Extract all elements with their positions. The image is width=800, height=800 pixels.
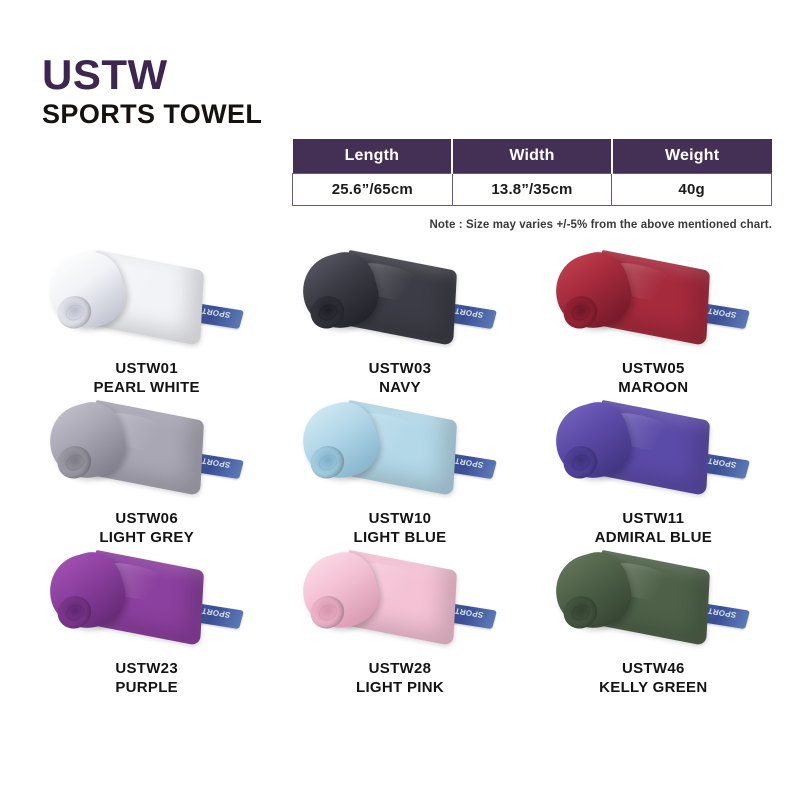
title-block: USTW SPORTS TOWEL — [42, 54, 262, 129]
towel-image: SPORT TOWEL — [42, 552, 252, 654]
product-grid: SPORT TOWELUSTW01PEARL WHITESPORT TOWELU… — [20, 250, 780, 700]
product-color-name: PURPLE — [115, 679, 178, 698]
product-cell[interactable]: SPORT TOWELUSTW46KELLY GREEN — [527, 550, 780, 700]
product-color-name: PEARL WHITE — [93, 379, 199, 398]
spec-table-header-row: Length Width Weight — [293, 139, 772, 174]
product-cell[interactable]: SPORT TOWELUSTW03NAVY — [273, 250, 526, 400]
product-color-name: ADMIRAL BLUE — [595, 529, 712, 548]
product-color-name: NAVY — [369, 379, 432, 398]
product-caption: USTW28LIGHT PINK — [356, 660, 444, 697]
towel-roll-end-face — [52, 590, 97, 634]
brand-subtitle: SPORTS TOWEL — [42, 100, 262, 128]
towel-image: SPORT TOWEL — [548, 252, 758, 354]
product-cell[interactable]: SPORT TOWELUSTW11ADMIRAL BLUE — [527, 400, 780, 550]
product-code: USTW11 — [595, 510, 712, 529]
product-caption: USTW05MAROON — [618, 360, 688, 397]
towel-roll-end-face — [305, 590, 350, 634]
product-color-name: MAROON — [618, 379, 688, 398]
product-caption: USTW46KELLY GREEN — [599, 660, 707, 697]
product-color-name: LIGHT BLUE — [353, 529, 446, 548]
product-catalog-page: USTW SPORTS TOWEL Length Width Weight 25… — [0, 0, 800, 800]
product-code: USTW10 — [353, 510, 446, 529]
spec-table-wrap: Length Width Weight 25.6”/65cm 13.8”/35c… — [292, 139, 772, 206]
product-cell[interactable]: SPORT TOWELUSTW23PURPLE — [20, 550, 273, 700]
product-cell[interactable]: SPORT TOWELUSTW05MAROON — [527, 250, 780, 400]
spec-header-weight: Weight — [612, 139, 772, 174]
spec-note: Note : Size may varies +/-5% from the ab… — [430, 219, 772, 231]
towel-roll-end-face — [305, 440, 350, 484]
product-code: USTW46 — [599, 660, 707, 679]
towel-roll-end-face — [52, 290, 97, 334]
product-caption: USTW23PURPLE — [115, 660, 178, 697]
product-code: USTW23 — [115, 660, 178, 679]
product-caption: USTW11ADMIRAL BLUE — [595, 510, 712, 547]
product-code: USTW01 — [93, 360, 199, 379]
towel-roll-end-face — [558, 290, 603, 334]
spec-header-length: Length — [293, 139, 453, 174]
product-cell[interactable]: SPORT TOWELUSTW06LIGHT GREY — [20, 400, 273, 550]
product-cell[interactable]: SPORT TOWELUSTW01PEARL WHITE — [20, 250, 273, 400]
brand-title: USTW — [42, 54, 262, 95]
spec-header-width: Width — [452, 139, 612, 174]
towel-roll-end-face — [305, 290, 350, 334]
towel-image: SPORT TOWEL — [295, 552, 505, 654]
product-color-name: LIGHT PINK — [356, 679, 444, 698]
product-color-name: LIGHT GREY — [99, 529, 194, 548]
product-code: USTW06 — [99, 510, 194, 529]
product-code: USTW28 — [356, 660, 444, 679]
towel-roll-end-face — [558, 440, 603, 484]
product-caption: USTW03NAVY — [369, 360, 432, 397]
product-code: USTW05 — [618, 360, 688, 379]
spec-table: Length Width Weight 25.6”/65cm 13.8”/35c… — [292, 139, 772, 206]
product-caption: USTW01PEARL WHITE — [93, 360, 199, 397]
product-cell[interactable]: SPORT TOWELUSTW28LIGHT PINK — [273, 550, 526, 700]
product-code: USTW03 — [369, 360, 432, 379]
towel-image: SPORT TOWEL — [295, 252, 505, 354]
product-caption: USTW10LIGHT BLUE — [353, 510, 446, 547]
spec-value-width: 13.8”/35cm — [452, 174, 612, 206]
spec-value-length: 25.6”/65cm — [293, 174, 453, 206]
towel-image: SPORT TOWEL — [42, 402, 252, 504]
spec-value-weight: 40g — [612, 174, 772, 206]
towel-roll-end-face — [558, 590, 603, 634]
product-cell[interactable]: SPORT TOWELUSTW10LIGHT BLUE — [273, 400, 526, 550]
product-caption: USTW06LIGHT GREY — [99, 510, 194, 547]
towel-roll-end-face — [52, 440, 97, 484]
towel-image: SPORT TOWEL — [548, 402, 758, 504]
spec-table-value-row: 25.6”/65cm 13.8”/35cm 40g — [293, 174, 772, 206]
product-color-name: KELLY GREEN — [599, 679, 707, 698]
towel-image: SPORT TOWEL — [42, 252, 252, 354]
towel-image: SPORT TOWEL — [548, 552, 758, 654]
towel-image: SPORT TOWEL — [295, 402, 505, 504]
